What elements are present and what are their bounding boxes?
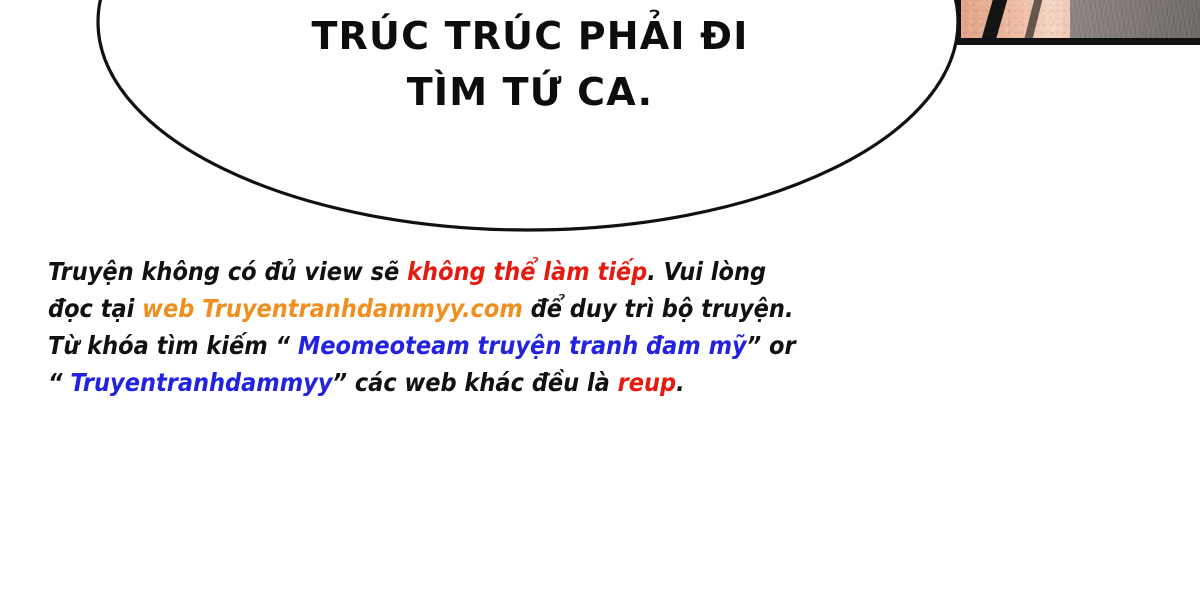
scanlation-notice: Truyện không có đủ view sẽ không thể làm… [48,253,878,401]
text-run-black: “ [48,368,70,397]
text-run-orange: web Truyentranhdammyy.com [142,294,523,323]
notice-line-3: Từ khóa tìm kiếm “ Meomeoteam truyện tra… [48,327,878,364]
notice-line-2: đọc tại web Truyentranhdammyy.com để duy… [48,290,878,327]
text-run-red: reup [618,368,676,397]
text-run-red: không thể làm tiếp [407,257,647,286]
panel-hair-area [1070,0,1200,38]
text-run-black: đọc tại [48,294,142,323]
text-run-blue: Meomeoteam truyện tranh đam mỹ [298,331,747,360]
balloon-line-1: TRÚC TRÚC PHẢI ĐI [130,8,930,64]
notice-line-1: Truyện không có đủ view sẽ không thể làm… [48,253,878,290]
text-run-black: . Vui lòng [647,257,766,286]
text-run-black: Từ khóa tìm kiếm “ [48,331,298,360]
balloon-line-2: TÌM TỨ CA. [130,64,930,120]
panel-hair-texture [1070,0,1200,38]
text-run-black: Truyện không có đủ view sẽ [48,257,407,286]
text-run-black: để duy trì bộ truyện. [523,294,794,323]
notice-line-4: “ Truyentranhdammyy” các web khác đều là… [48,364,878,401]
text-run-black: ” các web khác đều là [333,368,618,397]
text-run-black: . [676,368,685,397]
comic-panel-fragment [955,0,1200,45]
text-run-black: ” or [747,331,796,360]
text-run-blue: Truyentranhdammyy [70,368,332,397]
speech-balloon-text: TRÚC TRÚC PHẢI ĐI TÌM TỨ CA. [130,8,930,120]
